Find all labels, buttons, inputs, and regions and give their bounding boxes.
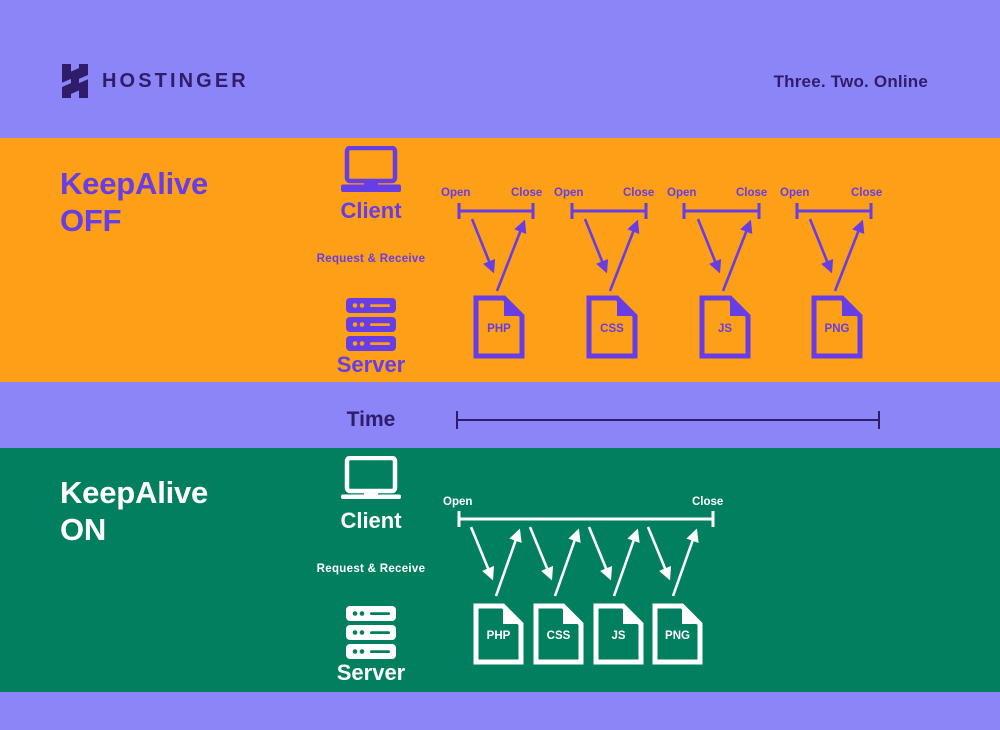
off-open-label-2: Open	[554, 187, 583, 199]
on-server-label: Server	[291, 660, 451, 686]
footer-band	[0, 692, 1000, 730]
time-band	[0, 382, 1000, 448]
off-client-icon	[291, 146, 451, 194]
off-close-label-4: Close	[851, 187, 882, 199]
off-open-label-4: Open	[780, 187, 809, 199]
hostinger-logo-icon	[62, 64, 88, 98]
on-client-label: Client	[291, 508, 451, 534]
on-open-label: Open	[443, 496, 472, 508]
off-flow-caption: Request & Receive	[291, 253, 451, 265]
keepalive-infographic: HOSTINGER Three. Two. Online KeepAlive O…	[0, 0, 1000, 730]
laptop-icon	[340, 456, 402, 504]
off-file-label-php: PHP	[476, 323, 522, 335]
on-file-label-php: PHP	[476, 630, 521, 642]
brand-tagline: Three. Two. Online	[774, 72, 928, 92]
off-file-label-png: PNG	[814, 323, 860, 335]
off-client-label: Client	[291, 198, 451, 224]
off-close-label-3: Close	[736, 187, 767, 199]
on-file-label-css: CSS	[536, 630, 581, 642]
on-client-icon	[291, 456, 451, 504]
off-open-label-3: Open	[667, 187, 696, 199]
server-rack-icon	[344, 297, 398, 353]
server-rack-icon	[344, 605, 398, 661]
off-file-label-css: CSS	[589, 323, 635, 335]
off-open-label-1: Open	[441, 187, 470, 199]
laptop-icon	[340, 146, 402, 194]
brand-logo: HOSTINGER	[62, 64, 249, 98]
brand-name: HOSTINGER	[102, 71, 249, 91]
off-close-label-2: Close	[623, 187, 654, 199]
off-server-icon	[291, 297, 451, 353]
on-flow-caption: Request & Receive	[291, 563, 451, 575]
on-server-icon	[291, 605, 451, 661]
on-file-label-png: PNG	[655, 630, 700, 642]
on-file-label-js: JS	[596, 630, 641, 642]
keepalive-off-title: KeepAlive OFF	[60, 166, 208, 239]
keepalive-on-title: KeepAlive ON	[60, 475, 208, 548]
off-server-label: Server	[291, 352, 451, 378]
off-close-label-1: Close	[511, 187, 542, 199]
on-close-label: Close	[692, 496, 723, 508]
time-label: Time	[291, 408, 451, 432]
off-file-label-js: JS	[702, 323, 748, 335]
